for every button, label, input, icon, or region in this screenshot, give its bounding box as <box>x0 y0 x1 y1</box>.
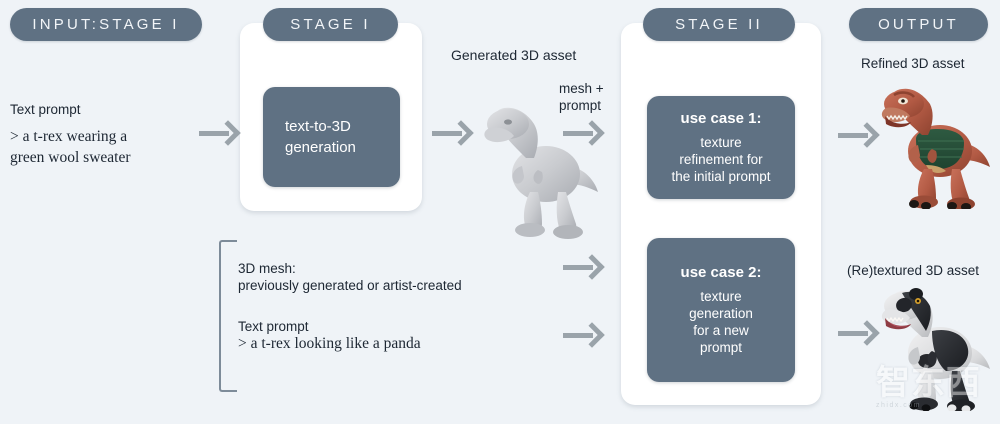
retextured-3d-asset-label: (Re)textured 3D asset <box>847 262 979 279</box>
mesh-prompt-line-1: mesh + <box>559 81 604 96</box>
retextured-3d-asset-panda-trex <box>880 285 992 411</box>
input-stage-2-prompt: > a t-rex looking like a panda <box>238 333 421 354</box>
use-case-2-module: use case 2: texture generation for a new… <box>647 238 795 382</box>
pill-stage-2: STAGE II <box>643 8 795 41</box>
use-case-2-title: use case 2: <box>681 264 762 281</box>
pill-stage-1: STAGE I <box>263 8 398 41</box>
use-case-1-body-line-3: the initial prompt <box>671 168 770 185</box>
pill-input-stage-1: INPUT:STAGE I <box>10 8 202 41</box>
use-case-2-body-line-3: for a new <box>689 322 753 339</box>
text-to-3d-generation-module: text-to-3D generation <box>263 87 400 187</box>
prompt-1-line-1: > a t-rex wearing a <box>10 128 127 145</box>
prompt-1-line-2: green wool sweater <box>10 149 131 166</box>
use-case-2-body-line-4: prompt <box>689 339 753 356</box>
pill-output: OUTPUT <box>849 8 988 41</box>
refined-3d-asset-label: Refined 3D asset <box>861 55 965 72</box>
generated-3d-asset-label: Generated 3D asset <box>451 47 576 64</box>
module-line-1: text-to-3D <box>285 116 351 137</box>
input-stage-2-mesh-label: 3D mesh: <box>238 260 296 277</box>
input-stage-2-mesh-description: previously generated or artist-created <box>238 277 462 294</box>
use-case-2-body-line-2: generation <box>689 305 753 322</box>
use-case-1-body-line-1: texture <box>671 134 770 151</box>
use-case-2-body-line-1: texture <box>689 288 753 305</box>
use-case-1-body-line-2: refinement for <box>671 151 770 168</box>
use-case-1-title: use case 1: <box>681 110 762 127</box>
module-line-2: generation <box>285 137 356 158</box>
input-stage-1-prompt: > a t-rex wearing agreen wool sweater <box>10 126 131 168</box>
use-case-1-module: use case 1: texture refinement for the i… <box>647 96 795 199</box>
generated-3d-asset-gray-trex <box>482 100 600 240</box>
refined-3d-asset-red-trex-green-sweater <box>880 83 992 209</box>
input-stage-2-bracket <box>219 240 237 392</box>
input-stage-1-text-prompt-label: Text prompt <box>10 101 81 118</box>
